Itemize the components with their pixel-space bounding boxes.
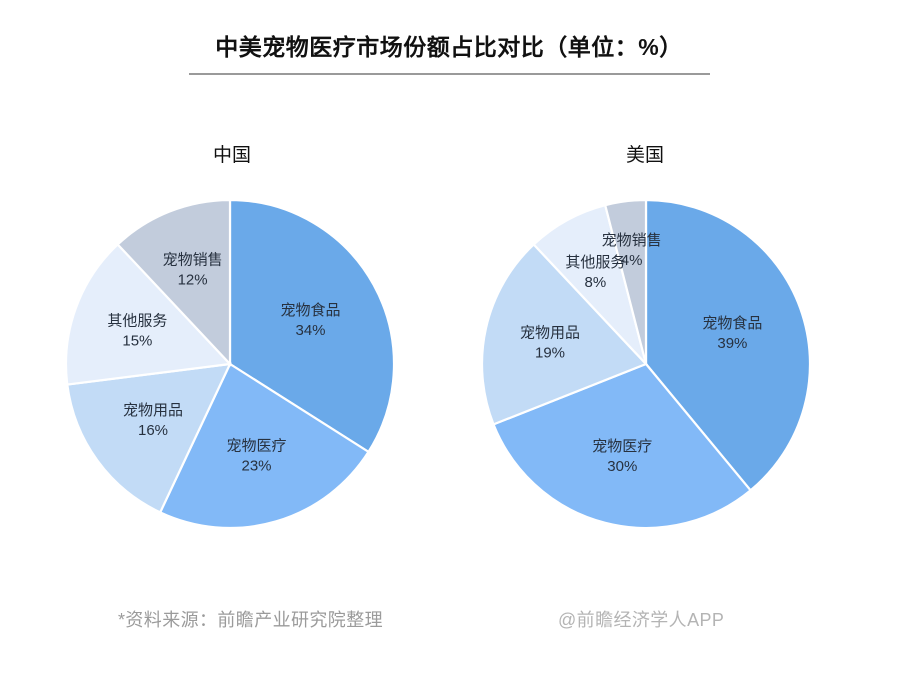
title-block: 中美宠物医疗市场份额占比对比（单位：%） [0, 30, 898, 75]
watermark: @前瞻经济学人APP [558, 606, 724, 632]
source-note: *资料来源：前瞻产业研究院整理 [118, 606, 383, 632]
pie-title-usa: 美国 [565, 143, 725, 169]
pie-svg-usa: 宠物食品39%宠物医疗30%宠物用品19%其他服务8%宠物销售4% [478, 196, 814, 532]
page-title: 中美宠物医疗市场份额占比对比（单位：%） [0, 30, 898, 64]
pie-title-china: 中国 [152, 143, 312, 169]
infographic-root: 中美宠物医疗市场份额占比对比（单位：%） 中国 美国 宠物食品34%宠物医疗23… [0, 0, 898, 684]
pie-chart-usa: 宠物食品39%宠物医疗30%宠物用品19%其他服务8%宠物销售4% [478, 196, 814, 532]
title-divider [189, 73, 710, 75]
pie-svg-china: 宠物食品34%宠物医疗23%宠物用品16%其他服务15%宠物销售12% [62, 196, 398, 532]
pie-chart-china: 宠物食品34%宠物医疗23%宠物用品16%其他服务15%宠物销售12% [62, 196, 398, 532]
